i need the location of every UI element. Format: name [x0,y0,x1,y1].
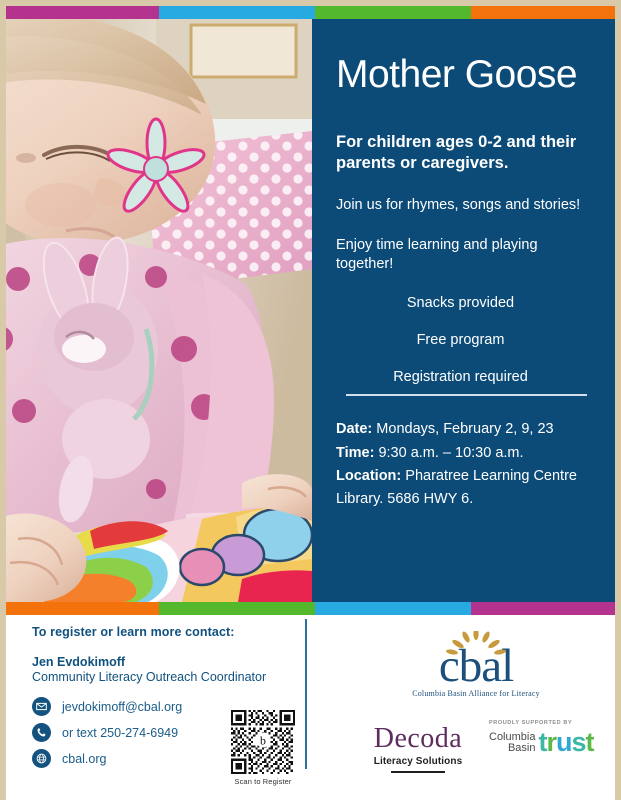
contact-name: Jen Evdokimoff [32,655,302,669]
phone-icon [32,723,51,742]
event-details: Date: Mondays, February 2, 9, 23 Time: 9… [336,418,597,512]
highlight-snacks: Snacks provided [336,295,597,311]
divider-rule [346,394,587,396]
decoda-wordmark: Decoda [358,725,478,753]
poster-subtitle: For children ages 0-2 and their parents … [336,132,597,174]
top-color-strip [6,6,615,19]
decoda-subtitle: Literacy Solutions [358,756,478,767]
detail-time: Time: 9:30 a.m. – 10:30 a.m. [336,442,597,465]
contact-role: Community Literacy Outreach Coordinator [32,669,302,685]
globe-icon [32,749,51,768]
detail-location: Location: Pharatree Learning Centre Libr… [336,465,597,512]
detail-location-label: Location: [336,468,401,484]
decoda-logo: Decoda Literacy Solutions [358,725,478,773]
svg-text:b: b [260,733,266,747]
footer: To register or learn more contact: Jen E… [6,615,615,800]
page-title: Mother Goose [336,55,597,96]
detail-date-value: Mondays, February 2, 9, 23 [376,421,553,437]
qr-caption: Scan to Register [227,777,299,786]
poster: Mother Goose For children ages 0-2 and t… [6,6,615,800]
strip-segment-cyan [315,602,471,615]
cbt-line-2: Basin [489,743,535,754]
detail-date: Date: Mondays, February 2, 9, 23 [336,418,597,441]
strip-segment-orange [471,6,615,19]
bottom-color-strip [6,602,615,615]
cbal-wordmark: cbal [391,643,561,690]
envelope-icon [32,697,51,716]
cbt-trust-wordmark: trust [538,729,593,756]
poster-paragraph-1: Join us for rhymes, songs and stories! [336,196,597,215]
highlight-free-program: Free program [336,332,597,348]
detail-time-value: 9:30 a.m. – 10:30 a.m. [378,445,523,461]
strip-segment-green [315,6,471,19]
baby-photo [6,19,312,602]
decoda-underline [391,771,445,773]
strip-segment-green [159,602,314,615]
cbt-supported-by: PROUDLY SUPPORTED BY [489,720,609,726]
highlight-registration: Registration required [336,369,597,385]
qr-code-image[interactable]: b [231,710,295,774]
detail-date-label: Date: [336,421,372,437]
cbal-logo: cbal Columbia Basin Alliance for Literac… [391,635,561,698]
strip-segment-cyan [159,6,314,19]
contact-website[interactable]: cbal.org [62,752,106,766]
detail-time-label: Time: [336,445,374,461]
cbt-columbia-basin: Columbia Basin [489,732,535,754]
info-panel: Mother Goose For children ages 0-2 and t… [312,19,615,602]
qr-code-block[interactable]: b Scan to Register [227,710,299,786]
poster-paragraph-2: Enjoy time learning and playing together… [336,236,597,274]
strip-segment-magenta [471,602,615,615]
columbia-basin-trust-logo: PROUDLY SUPPORTED BY Columbia Basin trus… [489,720,609,756]
strip-segment-orange [6,602,159,615]
contact-heading: To register or learn more contact: [32,625,302,639]
contact-phone[interactable]: or text 250-274-6949 [62,726,178,740]
contact-email[interactable]: jevdokimoff@cbal.org [62,700,182,714]
footer-divider [305,619,307,769]
strip-segment-magenta [6,6,159,19]
